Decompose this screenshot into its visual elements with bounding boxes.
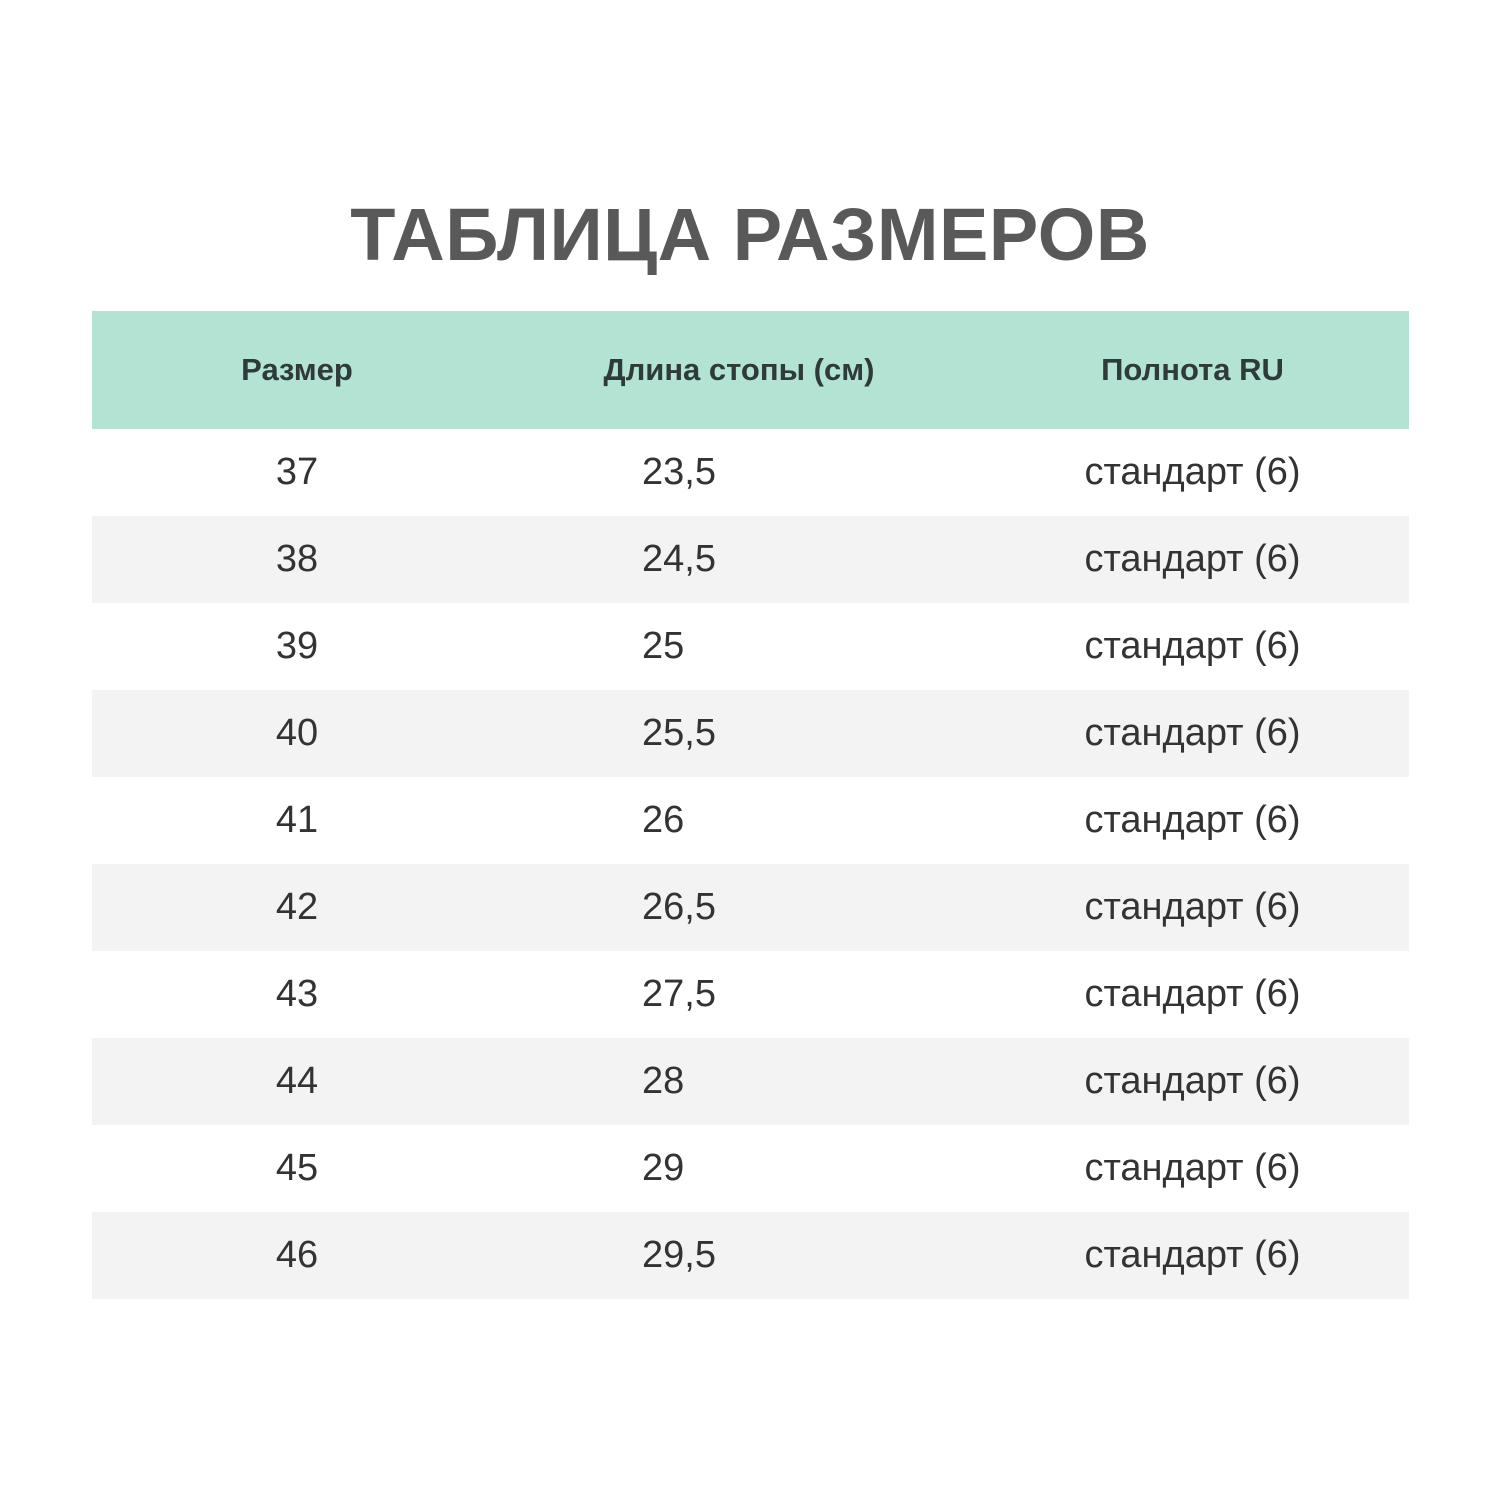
cell-fit: стандарт (6) xyxy=(976,516,1409,603)
cell-length: 28 xyxy=(502,1038,976,1125)
cell-length: 29 xyxy=(502,1125,976,1212)
table-header-row: Размер Длина стопы (см) Полнота RU xyxy=(92,311,1409,429)
cell-fit: стандарт (6) xyxy=(976,690,1409,777)
cell-size: 45 xyxy=(92,1125,502,1212)
table-body: 3723,5стандарт (6)3824,5стандарт (6)3925… xyxy=(92,429,1409,1299)
table-row: 4327,5стандарт (6) xyxy=(92,951,1409,1038)
table-row: 3723,5стандарт (6) xyxy=(92,429,1409,516)
cell-length: 29,5 xyxy=(502,1212,976,1299)
cell-fit: стандарт (6) xyxy=(976,1125,1409,1212)
cell-fit: стандарт (6) xyxy=(976,429,1409,516)
cell-size: 37 xyxy=(92,429,502,516)
cell-size: 46 xyxy=(92,1212,502,1299)
cell-fit: стандарт (6) xyxy=(976,1212,1409,1299)
cell-size: 40 xyxy=(92,690,502,777)
column-header-foot-length: Длина стопы (см) xyxy=(502,311,976,429)
cell-length: 24,5 xyxy=(502,516,976,603)
table-row: 4226,5стандарт (6) xyxy=(92,864,1409,951)
cell-length: 25,5 xyxy=(502,690,976,777)
table-row: 4529стандарт (6) xyxy=(92,1125,1409,1212)
cell-fit: стандарт (6) xyxy=(976,777,1409,864)
size-chart-table: Размер Длина стопы (см) Полнота RU 3723,… xyxy=(92,311,1409,1299)
cell-fit: стандарт (6) xyxy=(976,951,1409,1038)
cell-length: 23,5 xyxy=(502,429,976,516)
size-chart-page: ТАБЛИЦА РАЗМЕРОВ Размер Длина стопы (см)… xyxy=(0,0,1500,1500)
table-row: 3925стандарт (6) xyxy=(92,603,1409,690)
table-row: 4126стандарт (6) xyxy=(92,777,1409,864)
table-row: 4428стандарт (6) xyxy=(92,1038,1409,1125)
cell-size: 42 xyxy=(92,864,502,951)
cell-fit: стандарт (6) xyxy=(976,1038,1409,1125)
cell-fit: стандарт (6) xyxy=(976,864,1409,951)
cell-fit: стандарт (6) xyxy=(976,603,1409,690)
table-row: 3824,5стандарт (6) xyxy=(92,516,1409,603)
cell-size: 39 xyxy=(92,603,502,690)
cell-length: 25 xyxy=(502,603,976,690)
table-row: 4629,5стандарт (6) xyxy=(92,1212,1409,1299)
cell-size: 43 xyxy=(92,951,502,1038)
cell-size: 44 xyxy=(92,1038,502,1125)
cell-length: 27,5 xyxy=(502,951,976,1038)
cell-size: 38 xyxy=(92,516,502,603)
page-title: ТАБЛИЦА РАЗМЕРОВ xyxy=(0,198,1500,272)
cell-size: 41 xyxy=(92,777,502,864)
column-header-width-ru: Полнота RU xyxy=(976,311,1409,429)
column-header-size: Размер xyxy=(92,311,502,429)
cell-length: 26 xyxy=(502,777,976,864)
table-row: 4025,5стандарт (6) xyxy=(92,690,1409,777)
cell-length: 26,5 xyxy=(502,864,976,951)
table-header: Размер Длина стопы (см) Полнота RU xyxy=(92,311,1409,429)
